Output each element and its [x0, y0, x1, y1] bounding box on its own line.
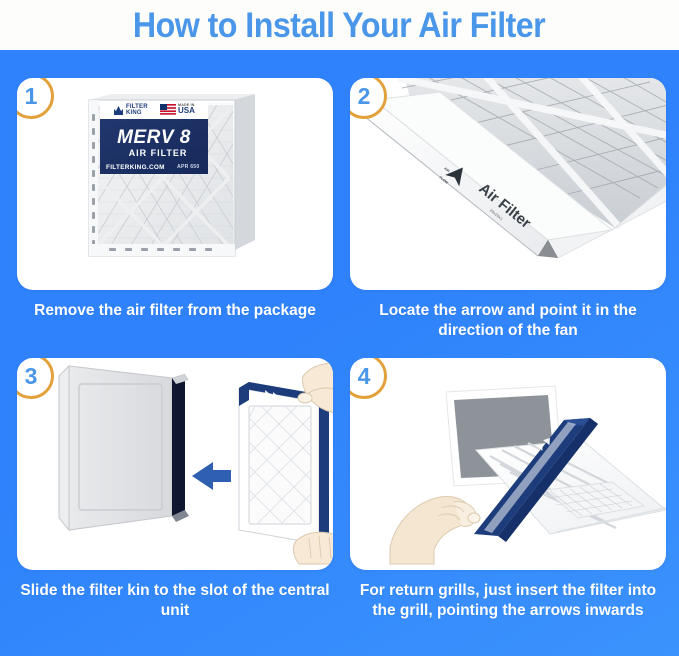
step-1-image-card: 1 — [17, 78, 333, 290]
step-1-caption: Remove the air filter from the package — [17, 301, 333, 321]
step-card-3: 3 — [17, 358, 333, 622]
step-3-artwork — [17, 358, 333, 570]
step-4-image-card: 4 — [350, 358, 666, 570]
step-1-artwork: FILTER KING — [17, 78, 333, 290]
step-2-artwork: AIR FLOW Air Filter 20x20x1 — [350, 78, 666, 290]
page-title: How to Install Your Air Filter — [133, 8, 545, 43]
step-card-2: 2 — [350, 78, 666, 342]
brand-line-2: KING — [126, 111, 148, 117]
made-in-usa-mark: MADE IN USA — [160, 104, 195, 115]
product-website-text: FILTERKING.COM — [106, 164, 165, 171]
product-brand-logo: FILTER KING — [113, 104, 148, 117]
step-card-4: 4 — [350, 358, 666, 622]
step-2-image-card: 2 — [350, 78, 666, 290]
step-3-image-card: 3 — [17, 358, 333, 570]
step-4-caption: For return grills, just insert the filte… — [350, 581, 666, 622]
steps-grid: 1 — [0, 50, 679, 656]
step-3-caption: Slide the filter kin to the slot of the … — [17, 581, 333, 622]
usa-flag-icon — [160, 104, 176, 115]
header-band: How to Install Your Air Filter — [0, 0, 679, 50]
filter-type-text: AIR FILTER — [17, 148, 299, 158]
product-apr-text: APR 650 — [177, 164, 199, 170]
crown-king-icon — [113, 104, 124, 117]
step-4-artwork — [350, 358, 666, 570]
hand-holding-filter — [390, 496, 480, 564]
infographic-root: How to Install Your Air Filter 1 — [0, 0, 679, 656]
country-text: USA — [178, 107, 195, 115]
step-card-1: 1 — [17, 78, 333, 321]
direction-arrow — [192, 462, 231, 490]
merv-rating-text: MERV 8 — [17, 127, 291, 149]
step-2-caption: Locate the arrow and point it in the dir… — [350, 301, 666, 342]
